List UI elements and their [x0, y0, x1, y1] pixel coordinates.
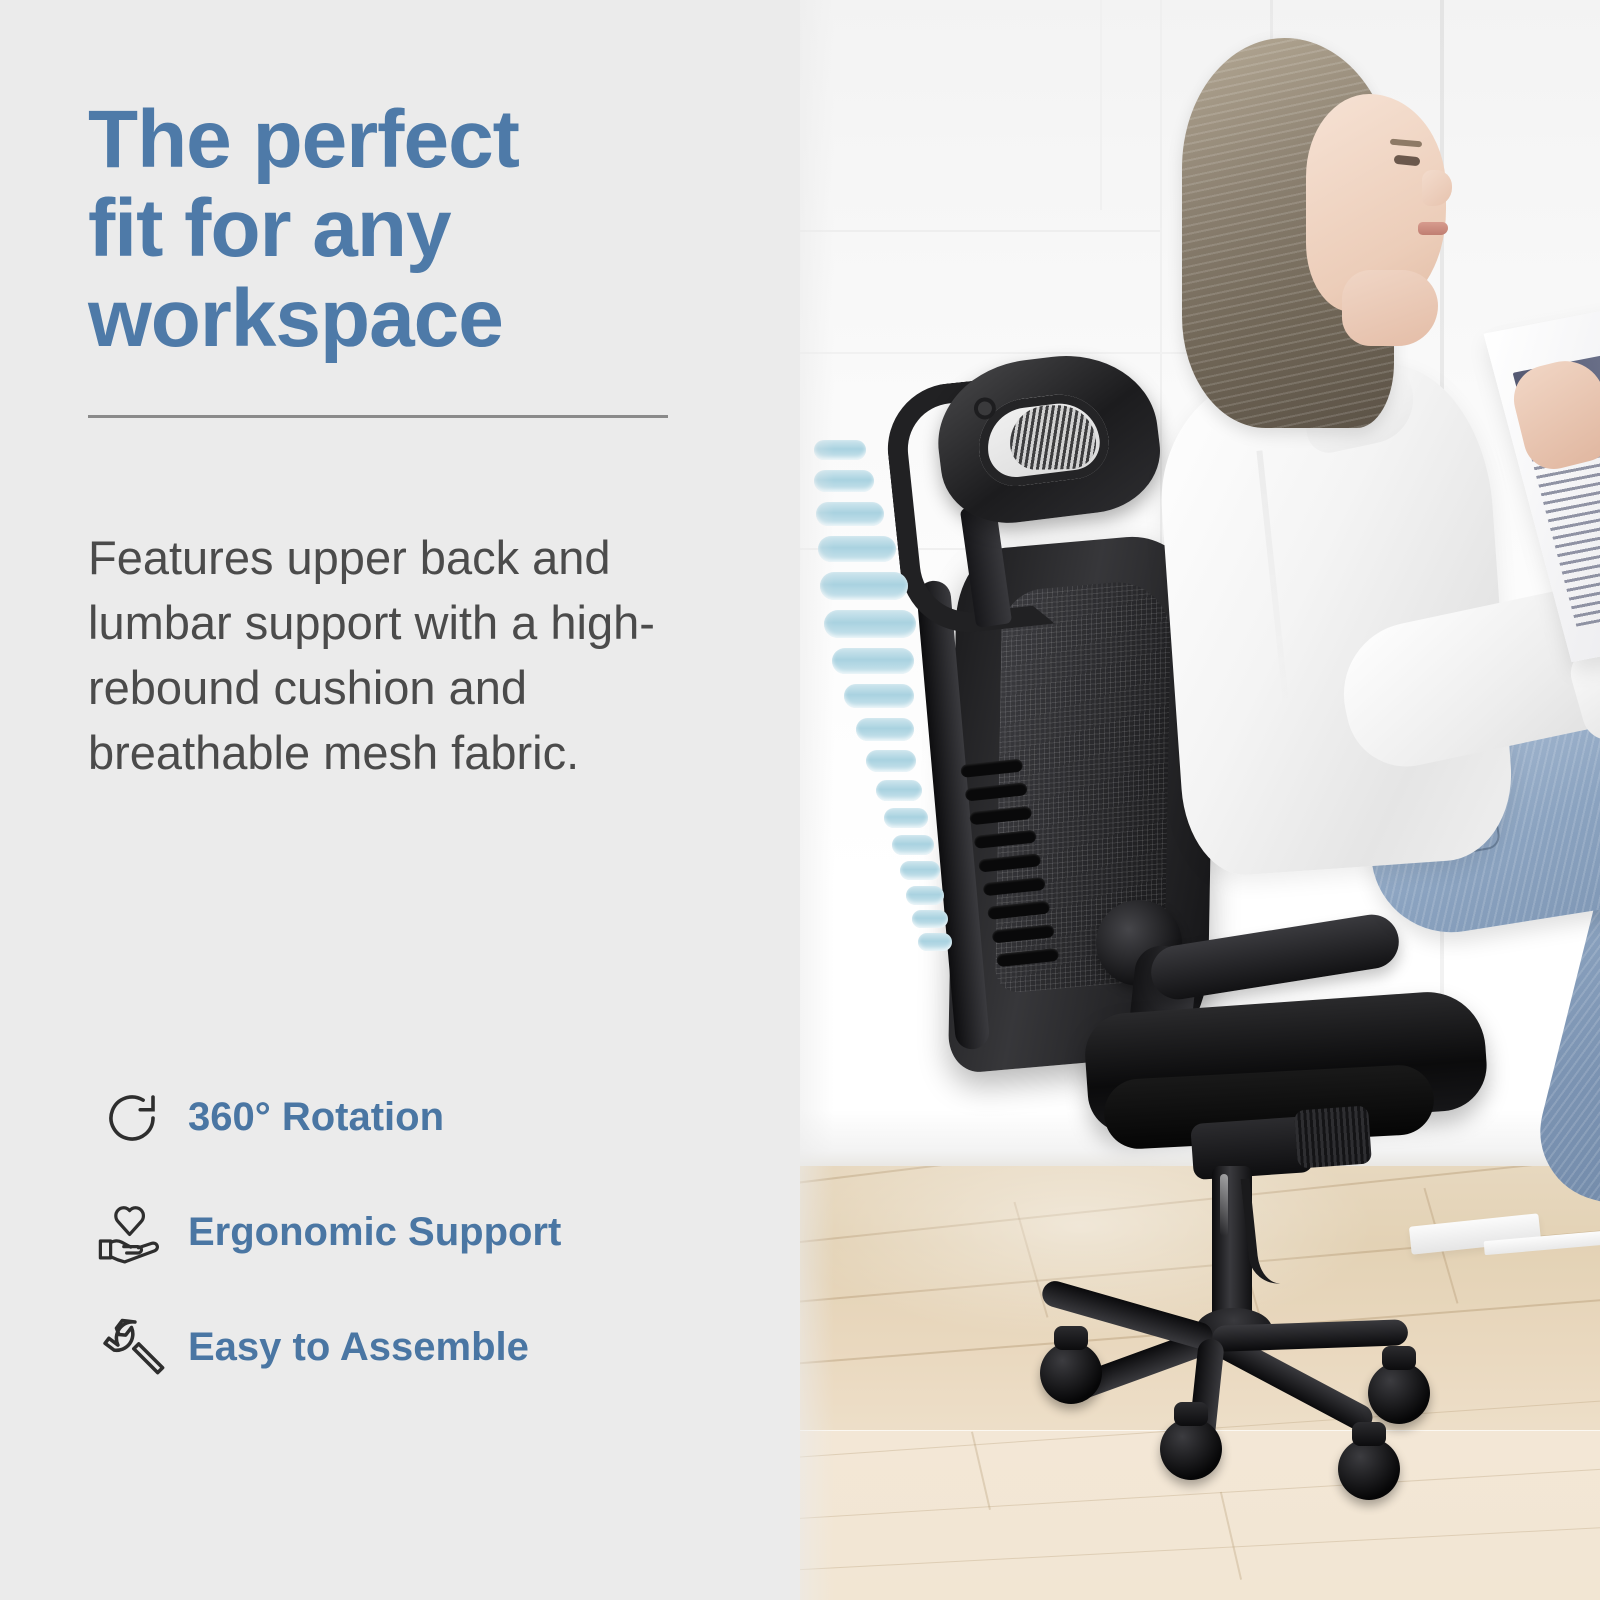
rotation-arrow-icon — [96, 1078, 188, 1158]
page-title: The perfect fit for any workspace — [88, 95, 688, 363]
feature-item-assembly: Easy to Assemble — [96, 1290, 776, 1405]
feature-item-ergonomic: Ergonomic Support — [96, 1175, 776, 1290]
nose — [1422, 170, 1452, 206]
product-lifestyle-photo — [800, 0, 1600, 1600]
hand-heart-icon — [96, 1193, 188, 1273]
chair-caster — [1368, 1362, 1430, 1424]
jaw — [1342, 270, 1438, 346]
lips — [1418, 222, 1448, 235]
chair-caster — [1160, 1418, 1222, 1480]
divider — [88, 415, 668, 418]
feature-label: Ergonomic Support — [188, 1210, 561, 1255]
wrench-icon — [96, 1308, 188, 1388]
feature-label: Easy to Assemble — [188, 1325, 529, 1370]
chair-caster — [1338, 1438, 1400, 1500]
feature-list: 360° Rotation Ergonomic Support — [96, 1060, 776, 1405]
feature-item-rotation: 360° Rotation — [96, 1060, 776, 1175]
body-copy: Features upper back and lumbar support w… — [88, 526, 698, 785]
seated-person — [970, 20, 1600, 1220]
chair-caster — [1040, 1342, 1102, 1404]
feature-label: 360° Rotation — [188, 1095, 444, 1140]
product-feature-banner: The perfect fit for any workspace Featur… — [0, 0, 1600, 1600]
text-panel: The perfect fit for any workspace Featur… — [0, 0, 800, 1600]
